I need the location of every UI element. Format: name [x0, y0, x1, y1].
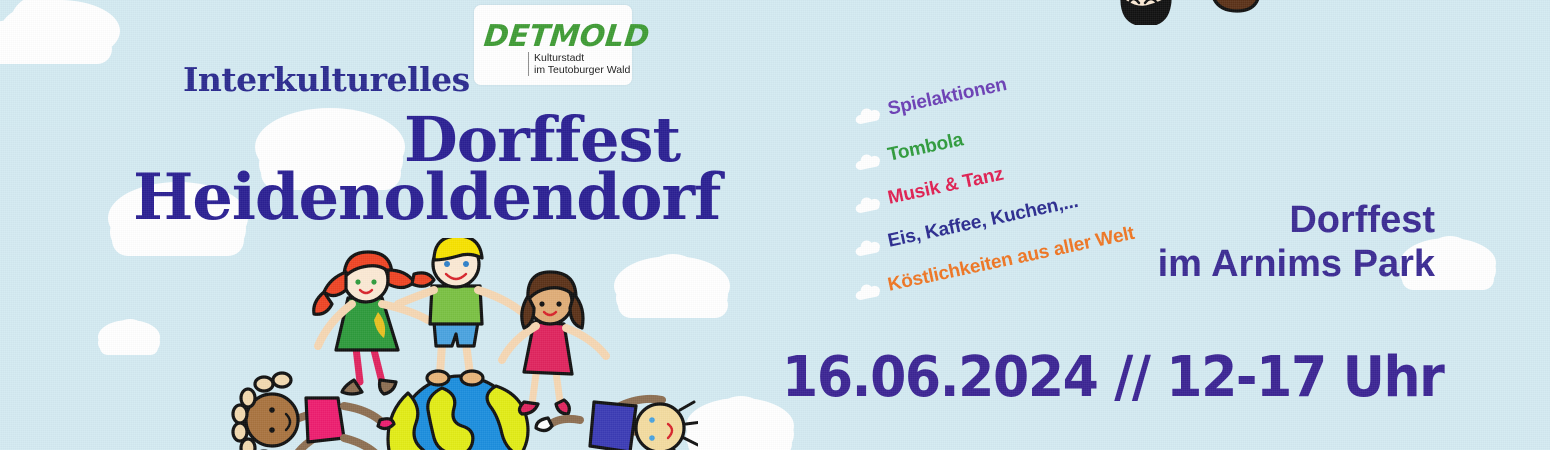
children-globe-illustration-left — [228, 238, 698, 450]
child-girl-pink-dress — [502, 272, 606, 414]
cloud-icon — [686, 398, 794, 450]
cloud-bullet-icon — [854, 237, 882, 256]
headline-block: Interkulturelles Dorffest Heidenoldendor… — [0, 0, 780, 260]
activity-label: Musik & Tanz — [886, 164, 1006, 210]
date-time-banner: 16.06.2024 // 12-17 Uhr — [782, 345, 1443, 410]
headline-line-heidenoldendorf: Heidenoldendorf — [133, 160, 720, 235]
detmold-tagline-line2: im Teutoburger Wald — [534, 64, 630, 76]
poster-root: Interkulturelles Dorffest Heidenoldendor… — [0, 0, 1550, 450]
venue-block: Dorffest im Arnims Park — [1135, 198, 1435, 286]
activity-item-spielaktionen: Spielaktionen — [853, 74, 1009, 128]
children-globe-illustration-right — [905, 0, 1375, 25]
cloud-bullet-icon — [854, 105, 882, 124]
headline-line-interkulturelles: Interkulturelles — [183, 60, 470, 99]
activity-label: Spielaktionen — [886, 74, 1009, 121]
child-blue-red — [1081, 0, 1205, 25]
venue-line-arnims-park: im Arnims Park — [1135, 242, 1435, 286]
detmold-tagline: Kulturstadt im Teutoburger Wald — [528, 52, 630, 76]
activity-item-tombola: Tombola — [853, 129, 966, 173]
cloud-bullet-icon — [854, 151, 882, 170]
child-red-dress — [1175, 0, 1285, 11]
cloud-bullet-icon — [854, 194, 882, 213]
activity-list: Spielaktionen Tombola Musik & Tanz Eis, … — [833, 82, 1133, 312]
detmold-logo[interactable]: DETMOLD Kulturstadt im Teutoburger Wald — [474, 5, 632, 85]
child-pink-shirt — [233, 373, 394, 450]
detmold-tagline-line1: Kulturstadt — [534, 52, 630, 64]
activity-item-musik-tanz: Musik & Tanz — [853, 164, 1006, 217]
child-girl-red-hair — [314, 252, 434, 394]
cloud-bullet-icon — [854, 281, 882, 300]
detmold-wordmark: DETMOLD — [482, 19, 651, 54]
globe — [388, 376, 528, 450]
cloud-icon — [98, 320, 160, 354]
activity-label: Tombola — [886, 129, 965, 166]
venue-line-dorffest: Dorffest — [1135, 198, 1435, 242]
